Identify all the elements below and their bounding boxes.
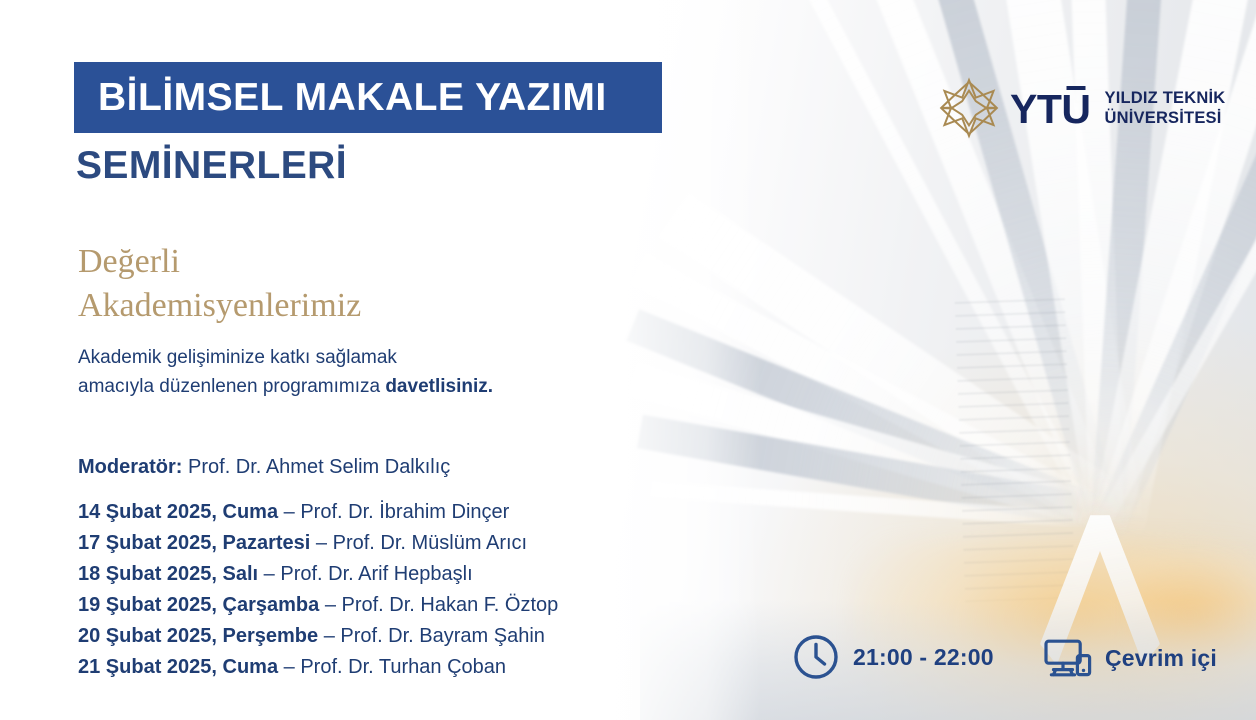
online-info: Çevrim içi (1044, 636, 1217, 680)
greeting-line-1: Değerli (78, 240, 361, 284)
online-label: Çevrim içi (1105, 645, 1217, 672)
page-title: BİLİMSEL MAKALE YAZIMI (74, 76, 607, 120)
ytu-name-line-1: YILDIZ TEKNİK (1105, 88, 1226, 108)
schedule-separator: – (284, 501, 295, 523)
ytu-name-line-2: ÜNİVERSİTESİ (1105, 108, 1226, 128)
schedule-row: 18 Şubat 2025, Salı – Prof. Dr. Arif Hep… (78, 559, 558, 590)
invitation-line-2-bold: davetlisiniz. (385, 376, 493, 397)
schedule-speaker: Prof. Dr. Turhan Çoban (300, 656, 506, 678)
moderator-line: Moderatör: Prof. Dr. Ahmet Selim Dalkılı… (78, 456, 450, 479)
moderator-label: Moderatör: (78, 456, 182, 478)
monitor-phone-icon (1044, 636, 1092, 680)
ytu-full-name: YILDIZ TEKNİK ÜNİVERSİTESİ (1105, 88, 1226, 128)
schedule-row: 20 Şubat 2025, Perşembe – Prof. Dr. Bayr… (78, 621, 558, 652)
schedule-speaker: Prof. Dr. Müslüm Arıcı (333, 532, 527, 554)
schedule-separator: – (284, 656, 295, 678)
schedule-speaker: Prof. Dr. İbrahim Dinçer (300, 501, 509, 523)
time-label: 21:00 - 22:00 (853, 644, 994, 671)
time-info: 21:00 - 22:00 (793, 634, 994, 680)
schedule-row: 14 Şubat 2025, Cuma – Prof. Dr. İbrahim … (78, 497, 558, 528)
macron-mark (1066, 86, 1085, 90)
seminar-poster: BİLİMSEL MAKALE YAZIMI SEMİNERLERİ Değer… (0, 0, 1256, 720)
invitation-text: Akademik gelişiminize katkı sağlamak ama… (78, 343, 493, 401)
schedule-date: 20 Şubat 2025, Perşembe (78, 625, 318, 647)
invitation-line-2-normal: amacıyla düzenlenen programımıza (78, 376, 385, 397)
ytu-acronym-u-wrap: U (1061, 89, 1090, 130)
schedule-separator: – (325, 594, 336, 616)
yildiz-star-icon (938, 77, 1000, 139)
greeting-block: Değerli Akademisyenlerimiz (78, 240, 361, 328)
schedule-date: 21 Şubat 2025, Cuma (78, 656, 278, 678)
ytu-logo: YTU YILDIZ TEKNİK ÜNİVERSİTESİ (938, 77, 1225, 139)
schedule-speaker: Prof. Dr. Arif Hepbaşlı (280, 563, 472, 585)
ytu-acronym-u: U (1061, 86, 1090, 132)
schedule-speaker: Prof. Dr. Hakan F. Öztop (342, 594, 559, 616)
schedule-separator: – (324, 625, 335, 647)
invitation-line-1: Akademik gelişiminize katkı sağlamak (78, 343, 493, 372)
schedule-date: 17 Şubat 2025, Pazartesi (78, 532, 310, 554)
schedule-date: 14 Şubat 2025, Cuma (78, 501, 278, 523)
invitation-line-2: amacıyla düzenlenen programımıza davetli… (78, 372, 493, 401)
schedule-list: 14 Şubat 2025, Cuma – Prof. Dr. İbrahim … (78, 497, 558, 683)
schedule-speaker: Prof. Dr. Bayram Şahin (340, 625, 545, 647)
schedule-row: 17 Şubat 2025, Pazartesi – Prof. Dr. Müs… (78, 528, 558, 559)
schedule-separator: – (264, 563, 275, 585)
ytu-acronym-yt: YT (1010, 86, 1061, 132)
page-subtitle: SEMİNERLERİ (76, 144, 347, 188)
schedule-row: 21 Şubat 2025, Cuma – Prof. Dr. Turhan Ç… (78, 652, 558, 683)
schedule-row: 19 Şubat 2025, Çarşamba – Prof. Dr. Haka… (78, 590, 558, 621)
moderator-name: Prof. Dr. Ahmet Selim Dalkılıç (188, 456, 450, 478)
schedule-date: 19 Şubat 2025, Çarşamba (78, 594, 319, 616)
schedule-date: 18 Şubat 2025, Salı (78, 563, 258, 585)
greeting-line-2: Akademisyenlerimiz (78, 284, 361, 328)
ytu-acronym: YTU (1010, 89, 1091, 130)
schedule-separator: – (316, 532, 327, 554)
clock-icon (793, 634, 839, 680)
title-banner: BİLİMSEL MAKALE YAZIMI (74, 62, 662, 133)
